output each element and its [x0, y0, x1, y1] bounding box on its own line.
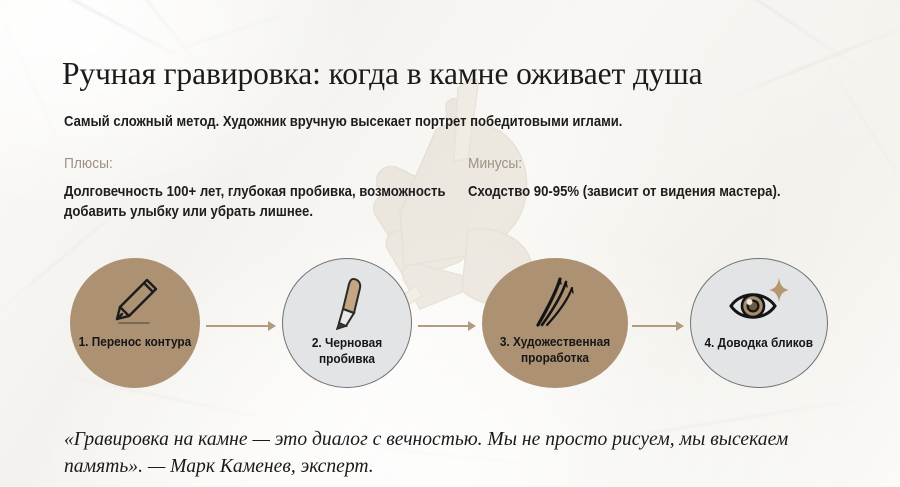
pencil-icon — [107, 270, 163, 332]
arrow-step3-to-step4 — [632, 321, 684, 331]
cons-column: Минусы: Сходство 90-95% (зависит от виде… — [468, 156, 848, 202]
page-title: Ручная гравировка: когда в камне оживает… — [62, 56, 703, 92]
step-1-label: 1. Перенос контура — [75, 334, 195, 350]
page-subtitle: Самый сложный метод. Художник вручную вы… — [64, 114, 622, 130]
step-2-label: 2. Черновая пробивка — [287, 335, 407, 367]
eye-sparkle-icon — [727, 271, 791, 333]
step-1-transfer-outline[interactable]: 1. Перенос контура — [70, 258, 200, 388]
step-4-highlight-finishing[interactable]: 4. Доводка бликов — [690, 258, 828, 388]
arrow-step1-to-step2 — [206, 321, 276, 331]
step-2-rough-punching[interactable]: 2. Черновая пробивка — [282, 258, 412, 388]
cons-body: Сходство 90-95% (зависит от видения маст… — [468, 182, 848, 202]
arrow-step2-to-step3 — [418, 321, 476, 331]
step-4-label: 4. Доводка бликов — [701, 335, 817, 351]
step-3-label: 3. Художественная проработка — [486, 334, 623, 366]
chisel-icon — [321, 271, 373, 333]
infographic-canvas: Ручная гравировка: когда в камне оживает… — [0, 0, 900, 487]
needles-icon — [526, 270, 584, 332]
pros-heading: Плюсы: — [64, 156, 422, 172]
process-steps: 1. Перенос контура 2. Черновая пробивка — [0, 258, 900, 408]
pros-body: Долговечность 100+ лет, глубокая пробивк… — [64, 182, 449, 222]
step-3-artistic-detailing[interactable]: 3. Художественная проработка — [482, 258, 628, 388]
pros-column: Плюсы: Долговечность 100+ лет, глубокая … — [64, 156, 449, 222]
expert-quote: «Гравировка на камне — это диалог с вечн… — [64, 426, 854, 480]
cons-heading: Минусы: — [468, 156, 821, 172]
